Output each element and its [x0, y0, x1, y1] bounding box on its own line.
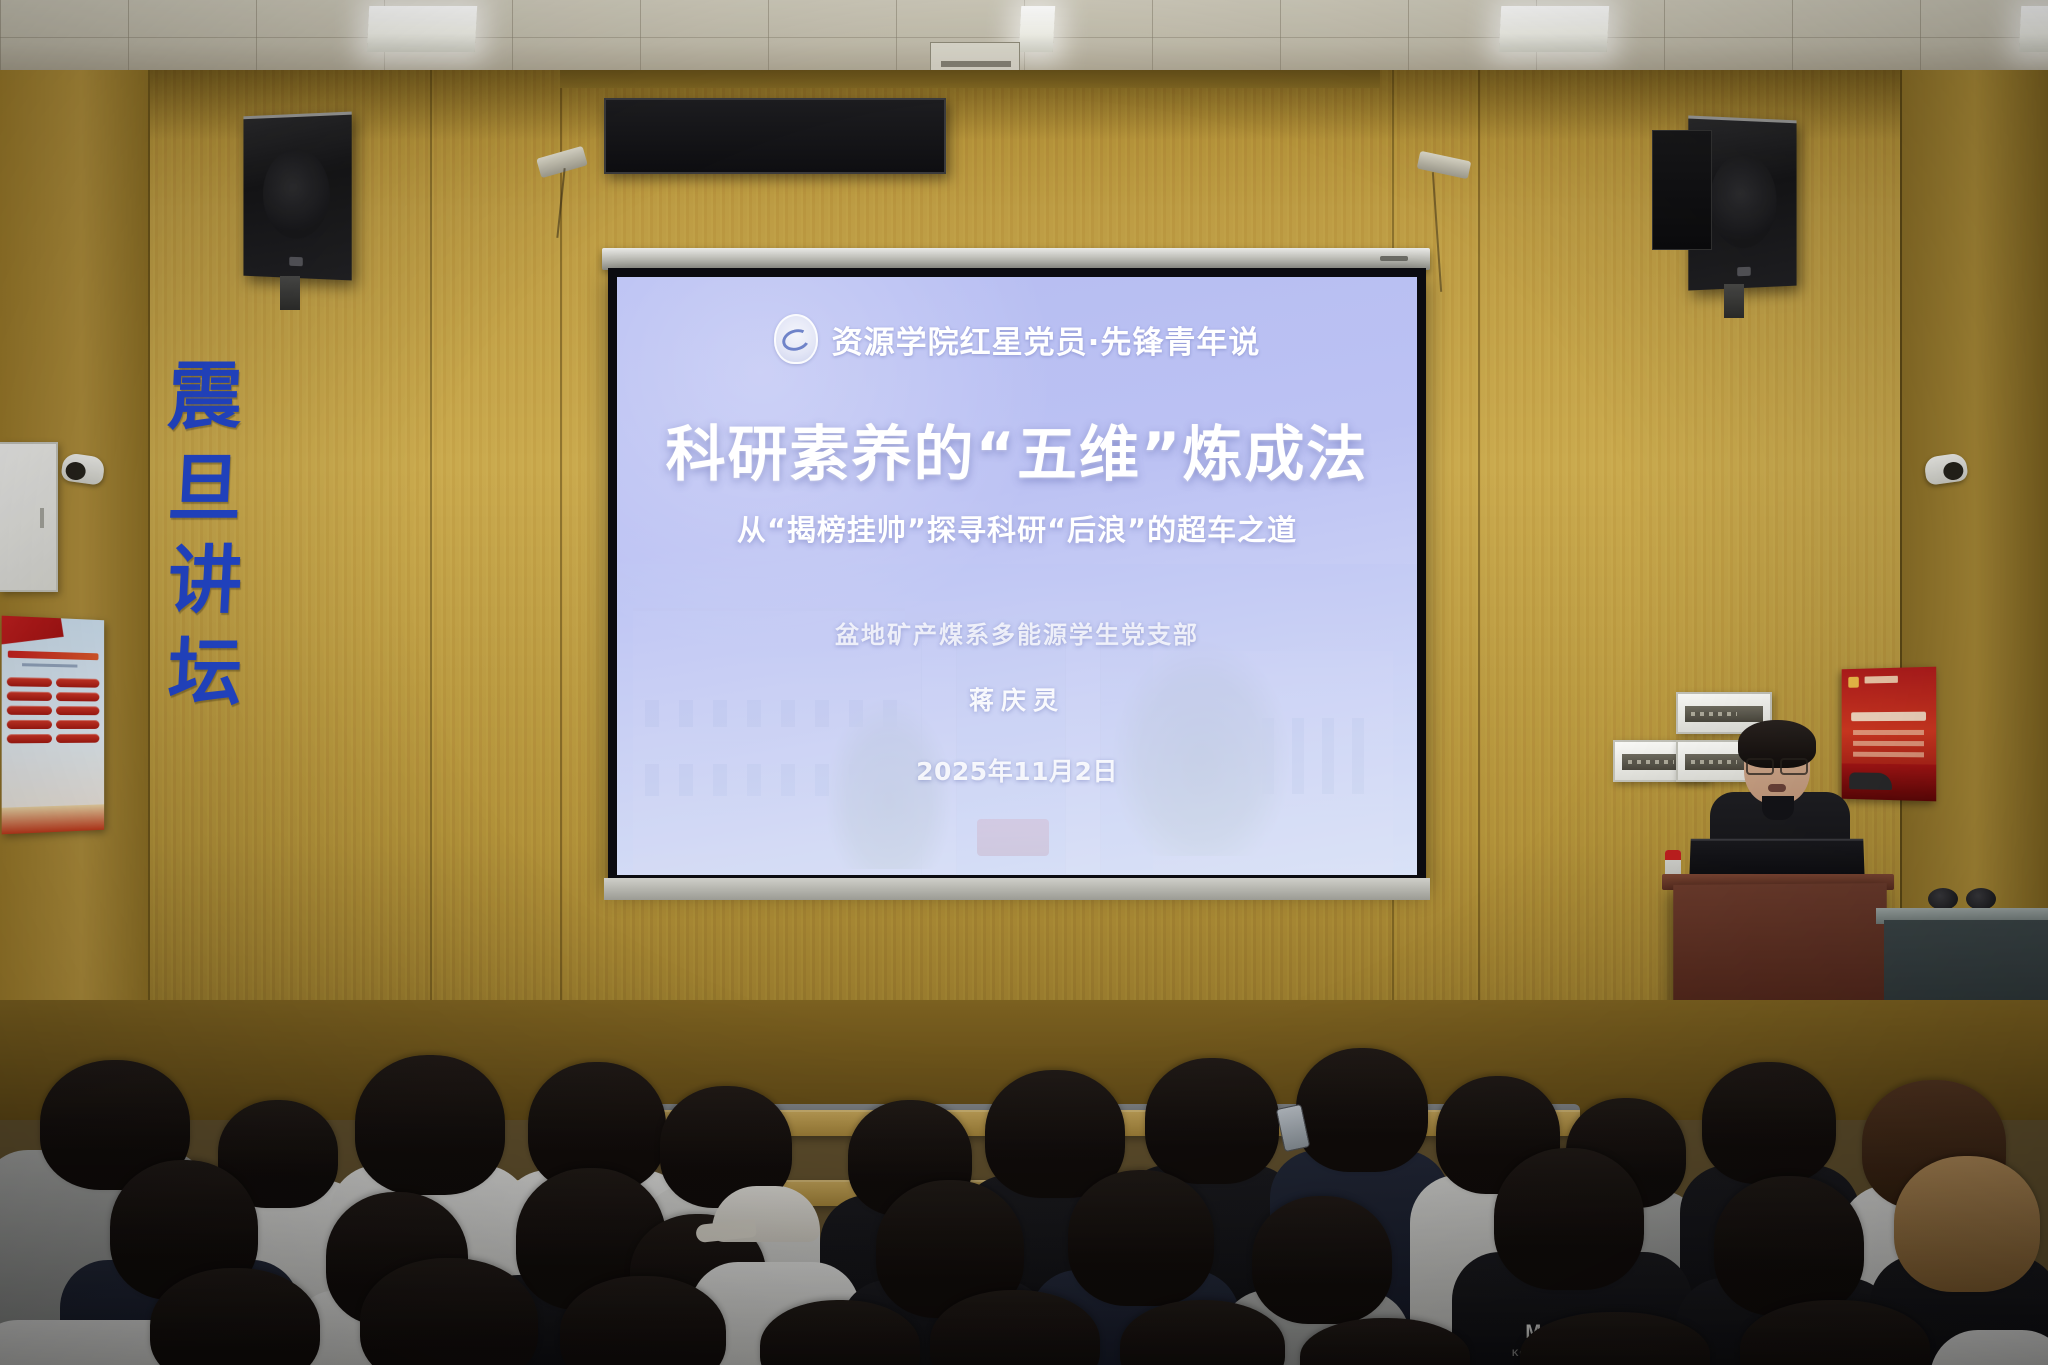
slide-speaker-name: 蒋庆灵 [617, 681, 1417, 717]
wall-display-panel [604, 98, 946, 174]
poster-title-bar [1851, 712, 1926, 722]
slide-date: 2025年11月2日 [617, 752, 1417, 788]
speaker-badge [1737, 267, 1751, 276]
ceiling-light-panel-3 [1499, 6, 1609, 52]
poster-brand-bar [1865, 676, 1898, 684]
wall-seam [1478, 70, 1480, 1060]
ceiling-light-panel-1 [367, 6, 477, 52]
poster-value-lines [1853, 730, 1924, 757]
audience-head [1296, 1048, 1428, 1172]
poster-chip-grid [7, 677, 100, 743]
speaker-bracket-left [280, 276, 300, 310]
calligraphy-char-1: 震 [166, 360, 244, 434]
slide-header: 资源学院红星党员·先锋青年说 [617, 314, 1417, 364]
calligraphy-char-4: 坛 [166, 636, 244, 710]
poster-footer [2, 804, 104, 834]
handheld-mic-1[interactable] [1928, 888, 1958, 910]
presenter-collar [1762, 796, 1794, 820]
wall-calligraphy: 震 旦 讲 坛 [140, 360, 270, 710]
audience-head [1145, 1058, 1279, 1184]
right-wall-poster [1842, 667, 1937, 802]
slide-title: 科研素养的“五维”炼成法 [617, 406, 1417, 493]
audience-head [1068, 1170, 1214, 1306]
wall-control-cabinet [0, 442, 58, 592]
projection-screen: 资源学院红星党员·先锋青年说 科研素养的“五维”炼成法 从“揭榜挂帅”探寻科研“… [608, 268, 1426, 884]
audience-head [1714, 1176, 1864, 1316]
housing-label [1380, 256, 1408, 261]
lecture-hall-scene: 震 旦 讲 坛 [0, 0, 2048, 1365]
ceiling [0, 0, 2048, 78]
poster-ribbon [2, 616, 64, 646]
presentation-slide: 资源学院红星党员·先锋青年说 科研素养的“五维”炼成法 从“揭榜挂帅”探寻科研“… [617, 277, 1417, 875]
handheld-mic-2[interactable] [1966, 888, 1996, 910]
baseball-cap [712, 1186, 820, 1242]
calligraphy-char-3: 讲 [166, 544, 244, 618]
wall-seam [430, 70, 432, 1060]
audience: MSIEK K KOBOEN NSEBNOK RO [0, 1000, 2048, 1365]
poster-illustration [1842, 763, 1937, 801]
calligraphy-char-2: 旦 [166, 452, 244, 526]
wall-speaker-left [243, 112, 351, 281]
university-emblem-icon [774, 314, 818, 364]
speaker-cone [263, 148, 330, 240]
left-wall-poster [2, 616, 104, 835]
audience-head [1702, 1062, 1836, 1184]
speaker-badge [289, 257, 303, 266]
audience-head [1894, 1156, 2040, 1292]
wall-monitor-right [1652, 130, 1712, 250]
party-emblem-icon [1848, 677, 1859, 688]
eyeglasses-icon [1746, 758, 1808, 771]
ceiling-light-panel-4 [2019, 6, 2048, 52]
slide-organization: 盆地矿产煤系多能源学生党支部 [617, 615, 1417, 650]
presenter-mouth [1768, 784, 1786, 792]
audience-head [1494, 1148, 1644, 1290]
audience-head [1252, 1196, 1392, 1324]
poster-title-bar [8, 651, 99, 661]
poster-subtitle-bar [22, 663, 77, 667]
slide-subtitle: 从“揭榜挂帅”探寻科研“后浪”的超车之道 [617, 507, 1417, 549]
roller-screen-housing [602, 248, 1430, 270]
speaker-bracket-right [1724, 284, 1744, 318]
screen-bottom-bar [604, 878, 1430, 900]
speaker-cone [1710, 154, 1777, 249]
audience-head [355, 1055, 505, 1195]
slide-header-text: 资源学院红星党员·先锋青年说 [832, 317, 1261, 362]
ceiling-light-panel-2 [1019, 6, 1055, 52]
